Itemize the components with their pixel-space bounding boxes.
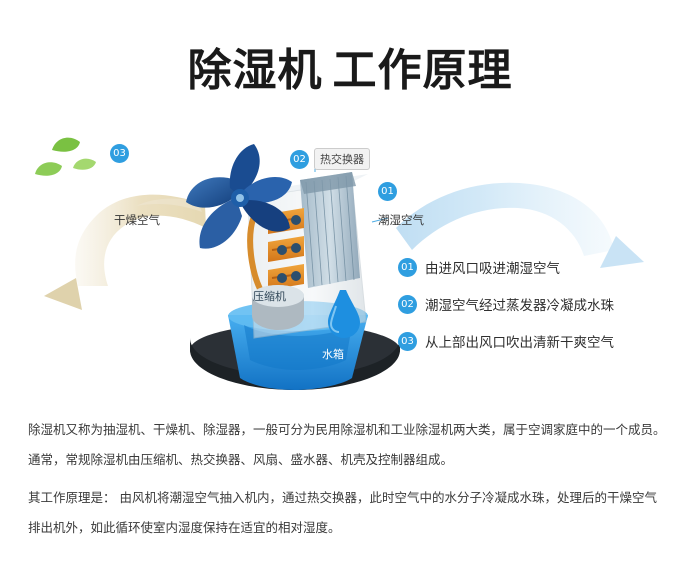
legend-text-02: 潮湿空气经过蒸发器冷凝成水珠 (425, 294, 614, 314)
page-root: 除湿机工作原理 (0, 0, 700, 566)
leaf-icon-group (35, 138, 96, 176)
legend-item-02: 02 潮湿空气经过蒸发器冷凝成水珠 (398, 289, 698, 319)
legend-item-03: 03 从上部出风口吹出清新干爽空气 (398, 326, 698, 356)
heat-exchanger-fins (300, 172, 360, 288)
legend-list: 01 由进风口吸进潮湿空气 02 潮湿空气经过蒸发器冷凝成水珠 03 从上部出风… (398, 252, 698, 363)
page-title-sub: 工作原理 (333, 45, 513, 96)
badge-03-diagram: 03 (110, 144, 129, 163)
body-paragraph-3: 其工作原理是： 由风机将潮湿空气抽入机内，通过热交换器，此时空气中的水分子冷凝成… (28, 486, 676, 510)
legend-badge-01: 01 (398, 258, 417, 277)
body-paragraph-2: 通常，常规除湿机由压缩机、热交换器、风扇、盛水器、机壳及控制器组成。 (28, 448, 676, 472)
label-water-tank: 水箱 (322, 346, 344, 362)
legend-badge-02: 02 (398, 295, 417, 314)
body-paragraph-4: 排出机外，如此循环使室内湿度保持在适宜的相对湿度。 (28, 516, 676, 540)
badge-02-diagram: 02 (290, 150, 309, 169)
legend-text-03: 从上部出风口吹出清新干爽空气 (425, 331, 614, 351)
page-title-main: 除湿机 (188, 45, 323, 96)
badge-01-diagram: 01 (378, 182, 397, 201)
label-compressor: 压缩机 (253, 288, 286, 304)
label-humid-air: 潮湿空气 (378, 212, 424, 228)
label-heat-exchanger: 热交换器 (314, 148, 370, 170)
page-title: 除湿机工作原理 (0, 34, 700, 98)
label-dry-air: 干燥空气 (114, 212, 160, 228)
legend-text-01: 由进风口吸进潮湿空气 (425, 257, 560, 277)
body-paragraph-1: 除湿机又称为抽湿机、干燥机、除湿器，一般可分为民用除湿机和工业除湿机两大类，属于… (28, 418, 676, 442)
body-text: 除湿机又称为抽湿机、干燥机、除湿器，一般可分为民用除湿机和工业除湿机两大类，属于… (28, 418, 676, 546)
legend-badge-03: 03 (398, 332, 417, 351)
legend-item-01: 01 由进风口吸进潮湿空气 (398, 252, 698, 282)
